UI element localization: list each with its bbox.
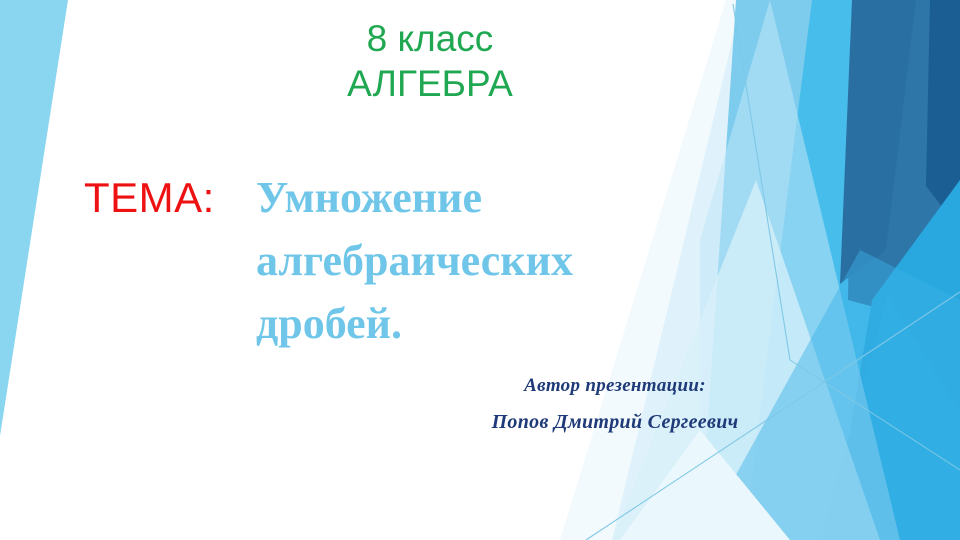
grade-line: 8 класс xyxy=(0,16,860,61)
author-credit-block: Автор презентации: Попов Дмитрий Сергеев… xyxy=(400,368,830,440)
presentation-slide: 8 класс АЛГЕБРА ТЕМА:Умножение алгебраич… xyxy=(0,0,960,540)
subject-line: АЛГЕБРА xyxy=(0,61,860,106)
topic-title-block: ТЕМА:Умножение алгебраических дробей. xyxy=(84,166,724,355)
topic-title-row: ТЕМА:Умножение алгебраических дробей. xyxy=(84,166,724,355)
author-caption: Автор презентации: xyxy=(400,368,830,404)
author-name: Попов Дмитрий Сергеевич xyxy=(400,404,830,440)
topic-label: ТЕМА: xyxy=(84,166,256,229)
slide-content: 8 класс АЛГЕБРА ТЕМА:Умножение алгебраич… xyxy=(0,0,960,540)
grade-subject-heading: 8 класс АЛГЕБРА xyxy=(0,16,860,106)
topic-title-text: Умножение алгебраических дробей. xyxy=(256,166,716,355)
